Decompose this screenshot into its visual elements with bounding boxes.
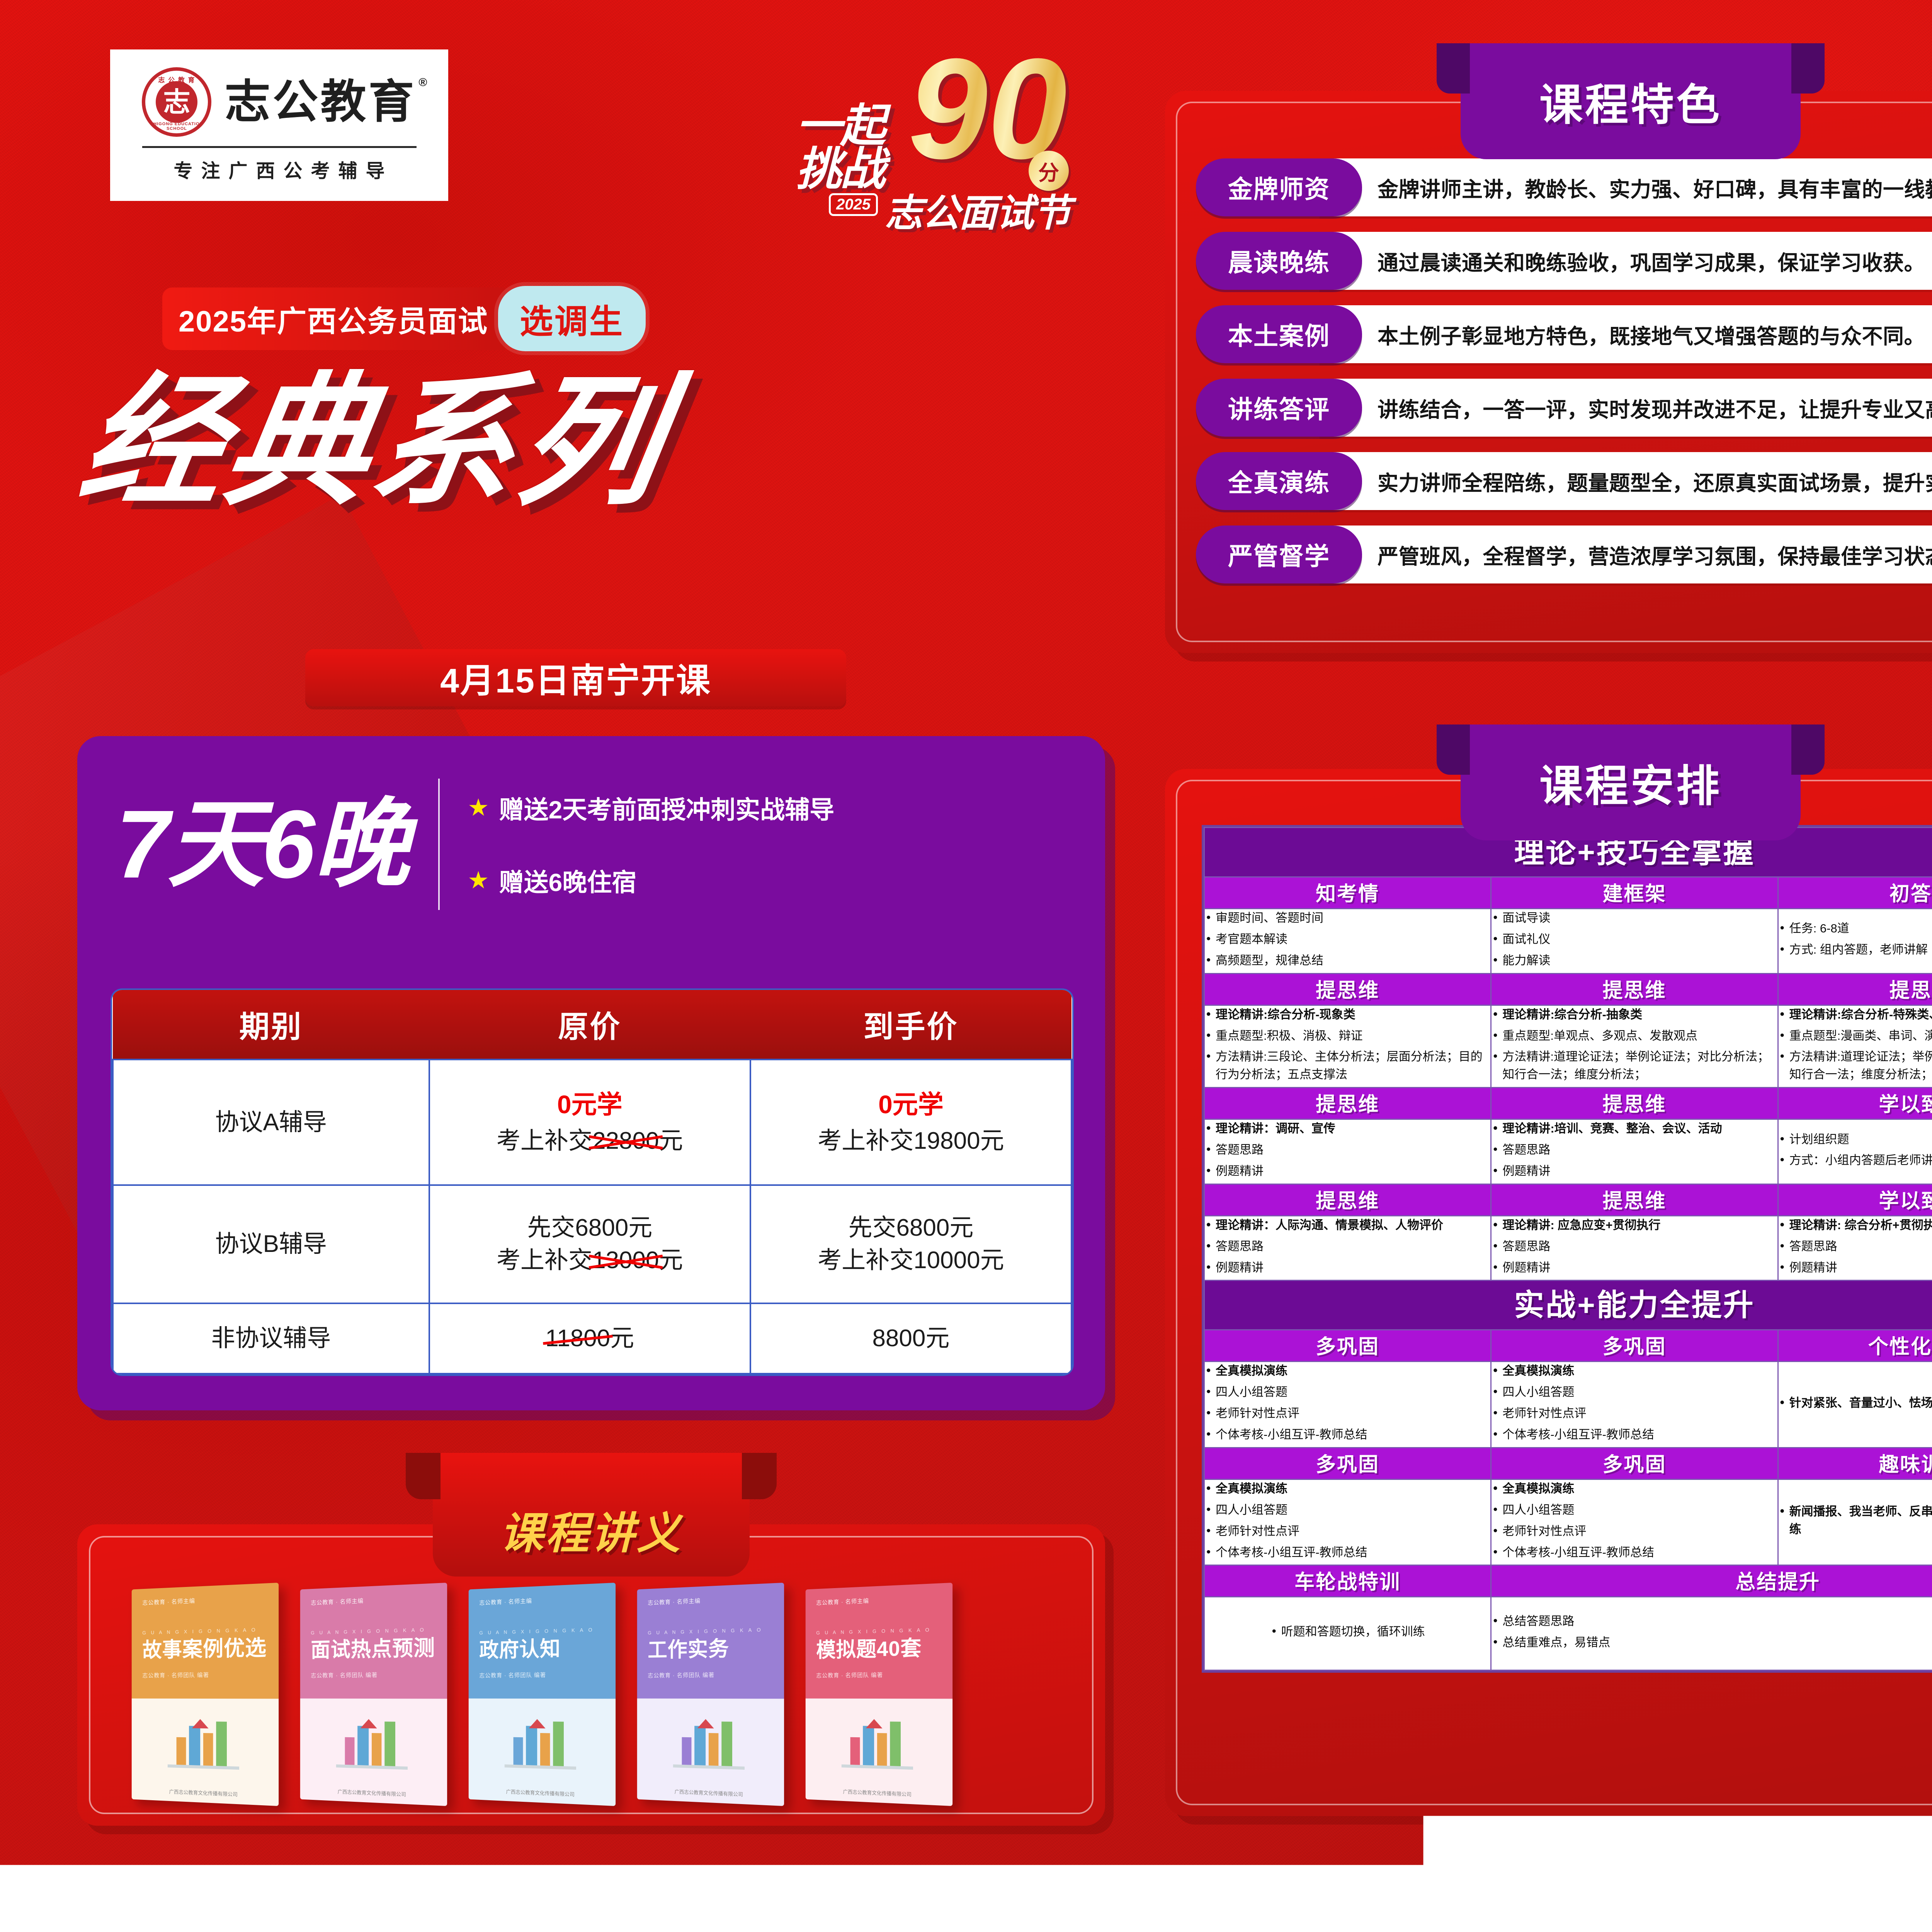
- list-item: 全真模拟演练: [1205, 1480, 1490, 1498]
- feature-row: 讲练答评讲练结合，一答一评，实时发现并改进不足，让提升专业又高效。: [1196, 379, 1932, 437]
- book-cover-illustration: [336, 1710, 408, 1770]
- list-item: 全真模拟演练: [1492, 1480, 1777, 1498]
- schedule-cell: 全真模拟演练四人小组答题老师针对性点评个体考核-小组互评-教师总结: [1491, 1362, 1778, 1448]
- list-item: 答题思路: [1205, 1238, 1490, 1255]
- badge-festival: 志公面试节: [885, 182, 1070, 237]
- price-col-period: 期别: [113, 990, 429, 1060]
- list-item: 答题思路: [1205, 1141, 1490, 1159]
- handout-book: 志公教育 · 名师主编G U A N G X I G O N G K A O工作…: [637, 1583, 784, 1806]
- table-row: 协议B辅导 先交6800元 考上补交13000元 先交6800元 考上补交100…: [113, 1185, 1071, 1303]
- schedule-cell: 理论精讲：人际沟通、情景模拟、人物评价答题思路例题精讲: [1204, 1216, 1491, 1281]
- list-item: 理论精讲: 应急应变+贯彻执行: [1492, 1216, 1777, 1234]
- price-row-original: 11800元: [429, 1303, 750, 1374]
- list-item: 答题思路: [1779, 1238, 1932, 1255]
- price-col-original: 原价: [429, 990, 750, 1060]
- list-item: 任务: 6-8道: [1779, 920, 1932, 937]
- footnote-schedule: 课表仅供参考，实际以安排为准: [1144, 1907, 1344, 1926]
- schedule-section-title: 实战+能力全提升: [1204, 1281, 1932, 1330]
- book-pinyin: G U A N G X I G O N G K A O: [816, 1626, 944, 1636]
- price-row-original: 0元学 考上补交22800元: [429, 1060, 750, 1185]
- schedule-column-header: 建框架: [1491, 877, 1778, 909]
- offer-divider: [438, 779, 440, 910]
- list-item: 例题精讲: [1492, 1162, 1777, 1180]
- offer-top-row: 7天6晚 ★ 赠送2天考前面授冲刺实战辅导 ★ 赠送6晚住宿: [77, 736, 1105, 952]
- book-logo: 志公教育 · 名师主编: [648, 1594, 775, 1607]
- schedule-header-row: 提思维提思维提思维: [1204, 973, 1932, 1005]
- list-item: 新闻播报、我当老师、反串教学、绕口令等趣味训练: [1779, 1503, 1932, 1538]
- star-icon: ★: [468, 869, 489, 893]
- table-row: 理论精讲：调研、宣传答题思路例题精讲理论精讲:培训、竞赛、整治、会议、活动答题思…: [1204, 1119, 1932, 1184]
- table-row: 听题和答题切换，循环训练总结答题思路总结重难点，易错点: [1204, 1597, 1932, 1670]
- brand-logo-row: 志 公 教 育 志 ZHIGONG EDUCATION SCHOOL 志公教育®: [142, 67, 416, 137]
- list-item: 四人小组答题: [1205, 1383, 1490, 1401]
- price-col-final: 到手价: [750, 990, 1071, 1060]
- feature-label: 全真演练: [1196, 452, 1362, 510]
- handouts-tab: 课程讲义: [433, 1453, 750, 1577]
- book-pinyin: G U A N G X I G O N G K A O: [142, 1626, 270, 1636]
- handout-book: 志公教育 · 名师主编G U A N G X I G O N G K A O政府…: [469, 1583, 616, 1806]
- course-start-date: 4月15日南宁开课: [305, 649, 846, 706]
- list-item: 例题精讲: [1205, 1259, 1490, 1277]
- badge-year: 2025: [829, 193, 878, 216]
- price-row-name: 非协议辅导: [113, 1303, 429, 1374]
- list-item: 理论精讲:综合分析-现象类: [1205, 1006, 1490, 1024]
- schedule-cell: 理论精讲:综合分析-抽象类重点题型:单观点、多观点、发散观点方法精讲:道理论证法…: [1491, 1005, 1778, 1088]
- list-item: 老师针对性点评: [1205, 1405, 1490, 1422]
- feature-label: 晨读晚练: [1196, 232, 1362, 290]
- book-subtitle: 志公教育 · 名师团队 编著: [142, 1670, 270, 1680]
- list-item: 个体考核-小组互评-教师总结: [1205, 1544, 1490, 1561]
- book-pinyin: G U A N G X I G O N G K A O: [648, 1626, 775, 1636]
- list-item: 例题精讲: [1779, 1259, 1932, 1277]
- book-title: 故事案例优选: [142, 1636, 270, 1662]
- headline-tag: 选调生: [498, 286, 646, 351]
- book-cover-illustration: [842, 1710, 913, 1770]
- price-row-final: 0元学 考上补交19800元: [750, 1060, 1071, 1185]
- handouts-book-list: 志公教育 · 名师主编G U A N G X I G O N G K A O故事…: [128, 1586, 952, 1803]
- book-subtitle: 志公教育 · 名师团队 编著: [311, 1670, 438, 1680]
- schedule-header-row: 多巩固多巩固个性化训练: [1204, 1330, 1932, 1362]
- book-title: 政府认知: [479, 1636, 607, 1662]
- free-badge: 0元学: [434, 1087, 746, 1122]
- book-logo: 志公教育 · 名师主编: [311, 1594, 438, 1607]
- schedule-column-header: 多巩固: [1204, 1447, 1491, 1479]
- list-item: 方法精讲:三段论、主体分析法；层面分析法；目的行为分析法；五点支撑法: [1205, 1048, 1490, 1083]
- challenge-text: 一起挑战: [796, 104, 884, 191]
- list-item: 四人小组答题: [1205, 1501, 1490, 1519]
- list-item: 全真模拟演练: [1492, 1362, 1777, 1380]
- list-item: 例题精讲: [1492, 1259, 1777, 1277]
- star-icon: ★: [468, 796, 489, 820]
- offer-duration: 7天6晚: [116, 796, 438, 893]
- list-item: 个体考核-小组互评-教师总结: [1205, 1426, 1490, 1444]
- schedule-header-row: 提思维提思维学以致用: [1204, 1184, 1932, 1216]
- book-publisher: 广西志公教育文化传播有限公司: [132, 1786, 279, 1800]
- schedule-column-header: 多巩固: [1491, 1330, 1778, 1362]
- feature-description: 讲练结合，一答一评，实时发现并改进不足，让提升专业又高效。: [1320, 379, 1932, 437]
- list-item: 个体考核-小组互评-教师总结: [1492, 1544, 1777, 1561]
- book-title: 模拟题40套: [816, 1636, 944, 1662]
- list-item: 理论精讲:综合分析-抽象类: [1492, 1006, 1777, 1024]
- schedule-column-header: 提思维: [1491, 1184, 1778, 1216]
- price-table-header-row: 期别 原价 到手价: [113, 990, 1071, 1060]
- schedule-column-header: 总结提升: [1491, 1565, 1932, 1597]
- feature-label: 讲练答评: [1196, 379, 1362, 437]
- final-amount-text: 考上补交10000元: [818, 1247, 1004, 1274]
- schedule-cell: 全真模拟演练四人小组答题老师针对性点评个体考核-小组互评-教师总结: [1491, 1479, 1778, 1565]
- book-cover-illustration: [673, 1710, 745, 1770]
- feature-description: 实力讲师全程陪练，题量题型全，还原真实面试场景，提升实战能力。: [1320, 452, 1932, 510]
- list-item: 方式：小组内答题后老师讲解: [1779, 1151, 1932, 1169]
- brand-name-text: 志公教育: [224, 77, 416, 128]
- handout-book: 志公教育 · 名师主编G U A N G X I G O N G K A O模拟…: [806, 1583, 952, 1806]
- schedule-cell: 新闻播报、我当老师、反串教学、绕口令等趣味训练: [1778, 1479, 1932, 1565]
- table-row: 非协议辅导 11800元 8800元: [113, 1303, 1071, 1374]
- handout-book: 志公教育 · 名师主编G U A N G X I G O N G K A O故事…: [132, 1583, 279, 1806]
- book-title: 工作实务: [648, 1636, 775, 1662]
- brand-name: 志公教育®: [224, 79, 416, 125]
- free-badge: 0元学: [755, 1087, 1067, 1122]
- prepay-text: 先交6800元: [527, 1214, 652, 1241]
- list-item: 听题和答题切换，循环训练: [1270, 1623, 1425, 1641]
- features-panel: 金牌师资金牌讲师主讲，教龄长、实力强、好口碑，具有丰富的一线教学经验。晨读晚练通…: [1165, 91, 1932, 653]
- list-item: 例题精讲: [1205, 1162, 1490, 1180]
- book-subtitle: 志公教育 · 名师团队 编著: [479, 1670, 607, 1680]
- handouts-tab-label: 课程讲义: [500, 1498, 682, 1561]
- feature-description: 通过晨读通关和晚练验收，巩固学习成果，保证学习收获。: [1320, 232, 1932, 290]
- book-subtitle: 志公教育 · 名师团队 编著: [648, 1670, 775, 1680]
- list-item: 个体考核-小组互评-教师总结: [1492, 1426, 1777, 1444]
- list-item: 总结答题思路: [1492, 1612, 1932, 1630]
- list-item: 面试礼仪: [1492, 930, 1777, 948]
- schedule-section-row: 实战+能力全提升: [1204, 1281, 1932, 1330]
- schedule-column-header: 学以致用: [1778, 1184, 1932, 1216]
- list-item: 答题思路: [1492, 1238, 1777, 1255]
- feature-description: 本土例子彰显地方特色，既接地气又增强答题的与众不同。: [1320, 305, 1932, 363]
- brand-logo-box: 志 公 教 育 志 ZHIGONG EDUCATION SCHOOL 志公教育®…: [110, 49, 448, 201]
- list-item: 高频题型，规律总结: [1205, 952, 1490, 969]
- list-item: 重点题型:单观点、多观点、发散观点: [1492, 1027, 1777, 1045]
- book-cover-illustration: [505, 1710, 576, 1770]
- list-item: 方式: 组内答题，老师讲解: [1779, 941, 1932, 959]
- list-item: 重点题型:积极、消极、辩证: [1205, 1027, 1490, 1045]
- schedule-cell: 面试导读面试礼仪能力解读: [1491, 909, 1778, 974]
- schedule-header-row: 多巩固多巩固趣味训练: [1204, 1447, 1932, 1479]
- list-item: 全真模拟演练: [1205, 1362, 1490, 1380]
- schedule-column-header: 多巩固: [1491, 1447, 1778, 1479]
- list-item: 计划组织题: [1779, 1131, 1932, 1148]
- schedule-cell: 计划组织题方式：小组内答题后老师讲解: [1778, 1119, 1932, 1184]
- list-item: 老师针对性点评: [1492, 1522, 1777, 1540]
- schedule-column-header: 个性化训练: [1778, 1330, 1932, 1362]
- schedule-cell: 理论精讲: 应急应变+贯彻执行答题思路例题精讲: [1491, 1216, 1778, 1281]
- schedule-cell: 理论精讲: 综合分析+贯彻执行答题思路例题精讲: [1778, 1216, 1932, 1281]
- logo-divider: [142, 146, 417, 148]
- schedule-cell: 理论精讲:综合分析-现象类重点题型:积极、消极、辩证方法精讲:三段论、主体分析法…: [1204, 1005, 1491, 1088]
- headline-row: 2025年广西公务员面试 选调生: [162, 286, 646, 351]
- table-row: 理论精讲：人际沟通、情景模拟、人物评价答题思路例题精讲理论精讲: 应急应变+贯彻…: [1204, 1216, 1932, 1281]
- schedule-header-row: 知考情建框架初答题: [1204, 877, 1932, 909]
- schedule-cell: 理论精讲:综合分析-特殊类、自我认知重点题型:漫画类、串词、演讲等方法精讲:道理…: [1778, 1005, 1932, 1088]
- list-item: 理论精讲:培训、竞赛、整治、会议、活动: [1492, 1120, 1777, 1138]
- schedule-column-header: 提思维: [1491, 973, 1778, 1005]
- schedule-cell: 理论精讲:培训、竞赛、整治、会议、活动答题思路例题精讲: [1491, 1119, 1778, 1184]
- gift-label: 赠送6晚住宿: [499, 863, 637, 898]
- handout-book: 志公教育 · 名师主编G U A N G X I G O N G K A O面试…: [300, 1583, 447, 1806]
- list-item: 理论精讲: 综合分析+贯彻执行: [1779, 1216, 1932, 1234]
- seal-center-char: 志: [156, 81, 197, 123]
- feature-label: 严管督学: [1196, 526, 1362, 583]
- gift-item: ★ 赠送6晚住宿: [468, 863, 834, 898]
- list-item: 理论精讲:综合分析-特殊类、自我认知: [1779, 1006, 1932, 1024]
- registered-mark-icon: ®: [418, 77, 429, 88]
- footnote-image: 图片仅供参考，一切以实物为准: [70, 1907, 270, 1926]
- list-item: 能力解读: [1492, 952, 1777, 969]
- feature-row: 金牌师资金牌讲师主讲，教龄长、实力强、好口碑，具有丰富的一线教学经验。: [1196, 158, 1932, 216]
- feature-description: 严管班风，全程督学，营造浓厚学习氛围，保持最佳学习状态。: [1320, 526, 1932, 583]
- book-logo: 志公教育 · 名师主编: [479, 1594, 607, 1607]
- list-item: 老师针对性点评: [1205, 1522, 1490, 1540]
- schedule-column-header: 趣味训练: [1778, 1447, 1932, 1479]
- book-publisher: 广西志公教育文化传播有限公司: [637, 1786, 784, 1800]
- list-item: 理论精讲：人际沟通、情景模拟、人物评价: [1205, 1216, 1490, 1234]
- list-item: 理论精讲：调研、宣传: [1205, 1120, 1490, 1138]
- schedule-column-header: 学以致用: [1778, 1088, 1932, 1119]
- schedule-cell: 总结答题思路总结重难点，易错点: [1491, 1597, 1932, 1670]
- page-title: 经典系列: [72, 371, 675, 513]
- brand-seal-icon: 志 公 教 育 志 ZHIGONG EDUCATION SCHOOL: [142, 67, 211, 137]
- schedule-column-header: 提思维: [1204, 973, 1491, 1005]
- table-row: 理论精讲:综合分析-现象类重点题型:积极、消极、辩证方法精讲:三段论、主体分析法…: [1204, 1005, 1932, 1088]
- headline-exam-line: 2025年广西公务员面试: [162, 287, 505, 350]
- schedule-column-header: 车轮战特训: [1204, 1565, 1491, 1597]
- features-tab: 课程特色: [1461, 43, 1801, 159]
- schedule-table: 理论+技巧全掌握知考情建框架初答题审题时间、答题时间考官题本解读高频题型，规律总…: [1204, 827, 1932, 1671]
- table-row: 全真模拟演练四人小组答题老师针对性点评个体考核-小组互评-教师总结全真模拟演练四…: [1204, 1362, 1932, 1448]
- list-item: 考官题本解读: [1205, 930, 1490, 948]
- price-row-original: 先交6800元 考上补交13000元: [429, 1185, 750, 1303]
- feature-row: 本土案例本土例子彰显地方特色，既接地气又增强答题的与众不同。: [1196, 305, 1932, 363]
- features-list: 金牌师资金牌讲师主讲，教龄长、实力强、好口碑，具有丰富的一线教学经验。晨读晚练通…: [1196, 158, 1932, 583]
- book-subtitle: 志公教育 · 名师团队 编著: [816, 1670, 944, 1680]
- schedule-column-header: 提思维: [1204, 1088, 1491, 1119]
- price-row-name: 协议B辅导: [113, 1185, 429, 1303]
- schedule-cell: 全真模拟演练四人小组答题老师针对性点评个体考核-小组互评-教师总结: [1204, 1479, 1491, 1565]
- table-row: 审题时间、答题时间考官题本解读高频题型，规律总结面试导读面试礼仪能力解读任务: …: [1204, 909, 1932, 974]
- list-item: 四人小组答题: [1492, 1383, 1777, 1401]
- schedule-tab: 课程安排: [1461, 724, 1801, 840]
- schedule-column-header: 多巩固: [1204, 1330, 1491, 1362]
- list-item: 方法精讲:道理论证法；举例论证法；对比分析法；知行合一法；维度分析法；: [1779, 1048, 1932, 1083]
- list-item: 老师针对性点评: [1492, 1405, 1777, 1422]
- price-table: 期别 原价 到手价 协议A辅导 0元学 考上补交22800元 0元学 考上补交1…: [112, 990, 1072, 1374]
- feature-row: 严管督学严管班风，全程督学，营造浓厚学习氛围，保持最佳学习状态。: [1196, 526, 1932, 583]
- schedule-header-row: 提思维提思维学以致用: [1204, 1088, 1932, 1119]
- price-row-final: 先交6800元 考上补交10000元: [750, 1185, 1071, 1303]
- book-logo: 志公教育 · 名师主编: [816, 1594, 944, 1607]
- final-amount-text: 考上补交19800元: [818, 1128, 1004, 1154]
- book-publisher: 广西志公教育文化传播有限公司: [300, 1786, 447, 1800]
- schedule-tab-label: 课程安排: [1539, 751, 1722, 814]
- gift-label: 赠送2天考前面授冲刺实战辅导: [499, 790, 835, 826]
- seal-top-text: 志 公 教 育: [145, 75, 208, 84]
- feature-description: 金牌讲师主讲，教龄长、实力强、好口碑，具有丰富的一线教学经验。: [1320, 158, 1932, 216]
- list-item: 重点题型:漫画类、串词、演讲等: [1779, 1027, 1932, 1045]
- schedule-header-row: 车轮战特训总结提升: [1204, 1565, 1932, 1597]
- prepay-text: 先交6800元: [848, 1214, 973, 1241]
- book-pinyin: G U A N G X I G O N G K A O: [311, 1626, 438, 1636]
- schedule-cell: 理论精讲：调研、宣传答题思路例题精讲: [1204, 1119, 1491, 1184]
- book-logo: 志公教育 · 名师主编: [142, 1594, 270, 1607]
- feature-row: 全真演练实力讲师全程陪练，题量题型全，还原真实面试场景，提升实战能力。: [1196, 452, 1932, 510]
- seal-bottom-text: ZHIGONG EDUCATION SCHOOL: [145, 122, 208, 131]
- book-publisher: 广西志公教育文化传播有限公司: [469, 1786, 616, 1800]
- schedule-column-header: 知考情: [1204, 877, 1491, 909]
- schedule-cell: 针对紧张、音量过小、怯场等个性问题训练: [1778, 1362, 1932, 1448]
- price-row-name: 协议A辅导: [113, 1060, 429, 1185]
- book-title: 面试热点预测: [311, 1636, 438, 1662]
- table-row: 全真模拟演练四人小组答题老师针对性点评个体考核-小组互评-教师总结全真模拟演练四…: [1204, 1479, 1932, 1565]
- schedule-cell: 审题时间、答题时间考官题本解读高频题型，规律总结: [1204, 909, 1491, 974]
- strikethrough-amount: 22800: [592, 1125, 659, 1157]
- list-item: 答题思路: [1492, 1141, 1777, 1159]
- price-row-final: 8800元: [750, 1303, 1071, 1374]
- book-cover-illustration: [168, 1710, 239, 1770]
- schedule-column-header: 提思维: [1778, 973, 1932, 1005]
- book-publisher: 广西志公教育文化传播有限公司: [806, 1786, 952, 1800]
- list-item: 审题时间、答题时间: [1205, 909, 1490, 927]
- list-item: 针对紧张、音量过小、怯场等个性问题训练: [1779, 1394, 1932, 1412]
- score-number: 90: [908, 50, 1067, 167]
- schedule-column-header: 提思维: [1204, 1184, 1491, 1216]
- schedule-column-header: 初答题: [1778, 877, 1932, 909]
- feature-row: 晨读晚练通过晨读通关和晚练验收，巩固学习成果，保证学习收获。: [1196, 232, 1932, 290]
- table-row: 协议A辅导 0元学 考上补交22800元 0元学 考上补交19800元: [113, 1060, 1071, 1185]
- feature-label: 金牌师资: [1196, 158, 1362, 216]
- gift-item: ★ 赠送2天考前面授冲刺实战辅导: [468, 790, 834, 826]
- schedule-cell: 任务: 6-8道方式: 组内答题，老师讲解: [1778, 909, 1932, 974]
- feature-label: 本土案例: [1196, 305, 1362, 363]
- book-pinyin: G U A N G X I G O N G K A O: [479, 1626, 607, 1636]
- schedule-column-header: 提思维: [1491, 1088, 1778, 1119]
- schedule-cell: 听题和答题切换，循环训练: [1204, 1597, 1491, 1670]
- strikethrough-amount: 11800: [545, 1322, 610, 1355]
- offer-gift-list: ★ 赠送2天考前面授冲刺实战辅导 ★ 赠送6晚住宿: [468, 790, 834, 898]
- list-item: 四人小组答题: [1492, 1501, 1777, 1519]
- list-item: 总结重难点，易错点: [1492, 1634, 1932, 1651]
- challenge-90-badge: 一起挑战 90 分 2025 志公面试节: [792, 35, 1086, 224]
- strikethrough-amount: 13000: [592, 1244, 659, 1277]
- brand-tagline: 专注广西公考辅导: [165, 156, 393, 183]
- features-tab-label: 课程特色: [1539, 70, 1722, 133]
- list-item: 方法精讲:道理论证法；举例论证法；对比分析法；知行合一法；维度分析法；: [1492, 1048, 1777, 1083]
- list-item: 面试导读: [1492, 909, 1777, 927]
- schedule-cell: 全真模拟演练四人小组答题老师针对性点评个体考核-小组互评-教师总结: [1204, 1362, 1491, 1448]
